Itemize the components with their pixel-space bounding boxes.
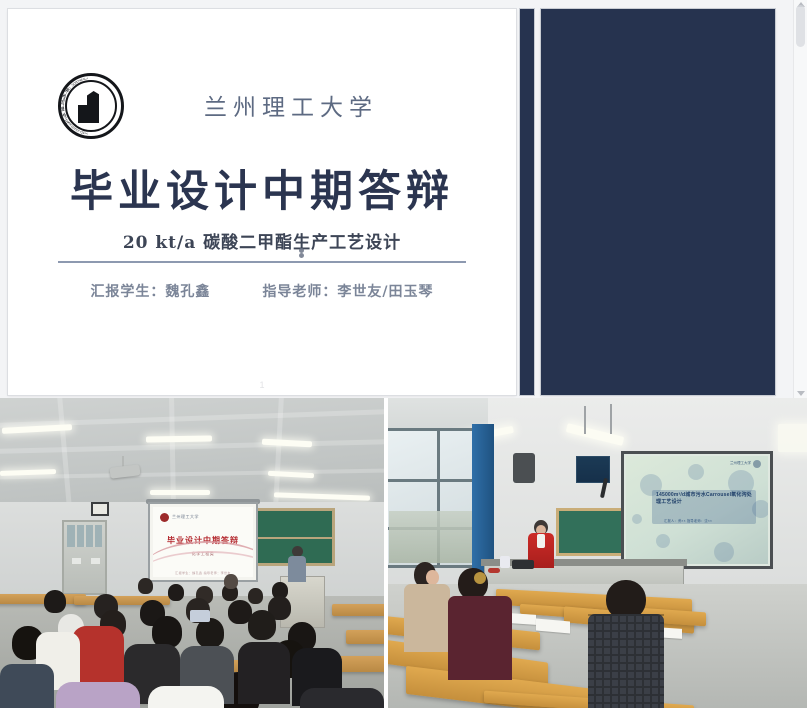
slide-byline: 汇报学生：魏孔鑫指导老师：李世友/田玉琴 [8,281,516,301]
projected-title: 145000m³/d城市污水Carrousel氧化沟处理工艺设计 [656,492,756,506]
scroll-down-arrow-icon[interactable] [797,391,805,396]
audience-figure [448,568,512,678]
mini-seal-icon [753,460,761,468]
audience-figure [588,580,664,708]
photo-lecture-hall[interactable]: 兰州理工大学 毕业设计中期答辩 化学工程类 汇报学生：魏孔鑫 指导老师：李世友 [0,398,384,708]
chalkboard [556,508,624,556]
photo-lecture-hall-image: 兰州理工大学 毕业设计中期答辩 化学工程类 汇报学生：魏孔鑫 指导老师：李世友 [0,398,384,708]
slide-canvas: 兰州理工大学LANZHOU UNIVERSITY OF TECHNOLOGY 兰… [8,9,516,395]
paper-sheet [510,613,536,625]
wall-clock-icon [91,502,109,516]
audience-figure [404,562,450,652]
projection-screen: 兰州理工大学 145000m³/d城市污水Carrousel氧化沟处理工艺设计 … [621,451,773,569]
slide-page-next[interactable] [541,9,775,395]
text-cursor-icon [296,248,306,260]
scrollbar-thumb[interactable] [796,5,805,47]
slide-main-title: 毕业设计中期答辩 [8,157,516,219]
slide-page-current[interactable]: 兰州理工大学LANZHOU UNIVERSITY OF TECHNOLOGY 兰… [8,9,516,395]
curtain [472,424,494,574]
title-divider [58,261,466,263]
projected-byline: 汇报人：黄×× 指导老师：沈×× [664,518,754,523]
advisor-label: 指导老师：李世友/田玉琴 [262,284,433,300]
photo-strip: 兰州理工大学 毕业设计中期答辩 化学工程类 汇报学生：魏孔鑫 指导老师：李世友 [0,398,807,708]
classroom-door [62,520,107,595]
photo-seminar-room-image: 兰州理工大学 145000m³/d城市污水Carrousel氧化沟处理工艺设计 … [388,398,807,708]
slide-viewer[interactable]: 兰州理工大学LANZHOU UNIVERSITY OF TECHNOLOGY 兰… [0,0,807,398]
presenter-figure [288,546,306,582]
photo-seminar-room[interactable]: 兰州理工大学 145000m³/d城市污水Carrousel氧化沟处理工艺设计 … [388,398,807,708]
mini-seal-icon [160,513,169,522]
app-window: 兰州理工大学LANZHOU UNIVERSITY OF TECHNOLOGY 兰… [0,0,807,708]
university-seal-icon: 兰州理工大学LANZHOU UNIVERSITY OF TECHNOLOGY [54,71,130,143]
vertical-scrollbar[interactable] [793,0,807,398]
projected-slide: 兰州理工大学 145000m³/d城市污水Carrousel氧化沟处理工艺设计 … [626,456,768,564]
slide-page-number: 1 [8,380,516,390]
student-label: 汇报学生：魏孔鑫 [90,284,210,300]
wall-speaker-icon [513,453,535,483]
projected-slide: 兰州理工大学 毕业设计中期答辩 化学工程类 汇报学生：魏孔鑫 指导老师：李世友 [153,507,253,577]
slide-subtitle: 20 kt/a 碳酸二甲酯生产工艺设计 [8,228,516,253]
projected-university: 兰州理工大学 [730,461,751,466]
projected-university: 兰州理工大学 [172,514,199,520]
slide-edge-band [520,9,534,395]
seal-ring-text: 兰州理工大学LANZHOU UNIVERSITY OF TECHNOLOGY [58,73,124,139]
projection-screen: 兰州理工大学 毕业设计中期答辩 化学工程类 汇报学生：魏孔鑫 指导老师：李世友 [148,502,258,582]
university-name: 兰州理工大学 [204,88,464,122]
